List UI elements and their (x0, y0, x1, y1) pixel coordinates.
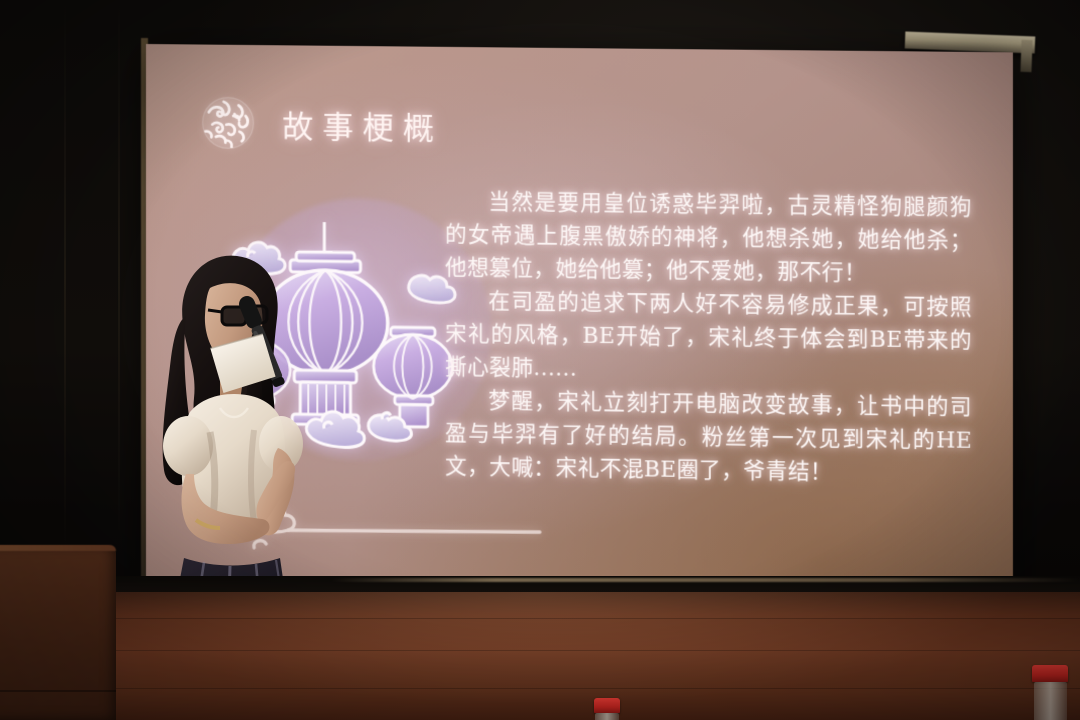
stage-floor (0, 592, 1080, 720)
slide-body-text: 当然是要用皇位诱惑毕羿啦，古灵精怪狗腿颜狗的女帝遇上腹黑傲娇的神将，他想杀她，她… (445, 185, 972, 491)
wooden-box-top-edge (0, 545, 116, 551)
slide-title: 故事梗概 (282, 101, 443, 148)
sleeve-left (163, 416, 213, 476)
wooden-box-seam (0, 690, 116, 692)
ceiling-beam-end (1020, 40, 1032, 72)
cloud-medallion-icon (200, 95, 256, 152)
floor-plank (0, 618, 1080, 619)
bottle-body (595, 713, 619, 720)
slide-paragraph-2: 在司盈的追求下两人好不容易修成正果，可按照宋礼的风格，BE开始了，宋礼终于体会到… (445, 285, 972, 392)
bottle-body (1034, 682, 1067, 720)
floor-sheen (0, 592, 1080, 720)
floor-plank (0, 688, 1080, 689)
floor-plank (0, 650, 1080, 651)
wall-seam (118, 0, 120, 545)
water-bottle-left (594, 698, 620, 720)
bottle-cap-icon (594, 698, 620, 713)
water-bottle-right (1032, 665, 1070, 720)
wooden-box (0, 545, 116, 720)
stage-base-highlight (330, 578, 1080, 582)
wall-seam (64, 0, 66, 560)
bottle-cap-icon (1032, 665, 1068, 682)
presentation-photo-scene: 故事梗概 (0, 0, 1080, 720)
slide-paragraph-3: 梦醒，宋礼立刻打开电脑改变故事，让书中的司盈与毕羿有了好的结局。粉丝第一次见到宋… (445, 384, 972, 491)
slide-header: 故事梗概 (200, 95, 443, 154)
slide-paragraph-1: 当然是要用皇位诱惑毕羿啦，古灵精怪狗腿颜狗的女帝遇上腹黑傲娇的神将，他想杀她，她… (445, 185, 972, 291)
